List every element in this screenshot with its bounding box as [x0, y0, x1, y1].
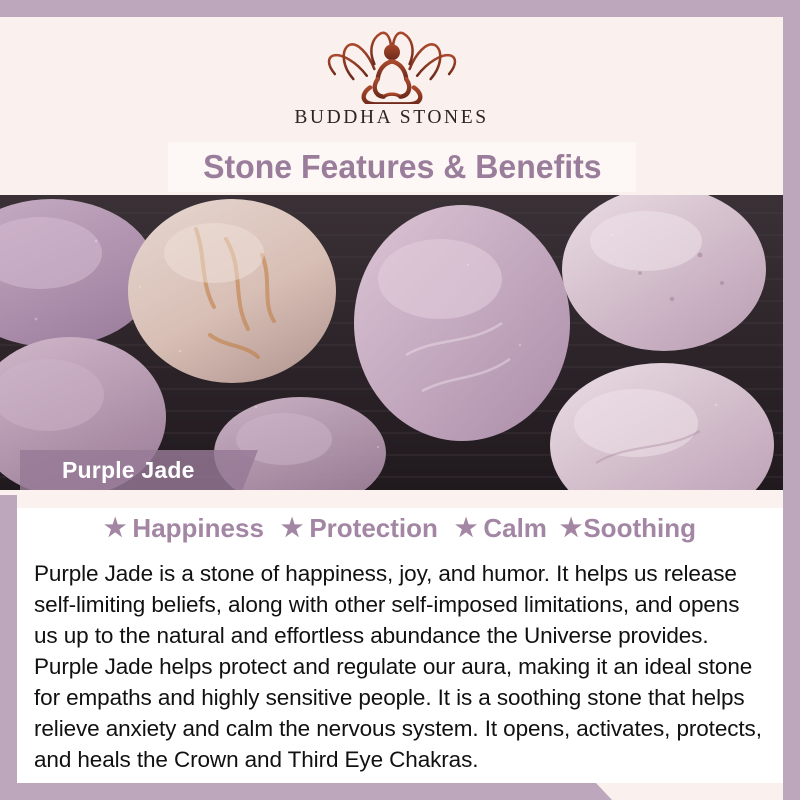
poster-root: BUDDHA STONES Stone Features & Benefits [0, 0, 800, 800]
description-block: Purple Jade is a stone of happiness, joy… [17, 548, 783, 783]
star-icon: ★ [455, 516, 477, 541]
purple-jade-stones-photo [0, 195, 783, 490]
stone-name: Purple Jade [20, 457, 195, 484]
section-title-bar: Stone Features & Benefits [168, 142, 636, 192]
star-icon: ★ [281, 516, 303, 541]
benefit-label: Protection [309, 513, 438, 544]
benefit-item-2: ★ Calm [455, 513, 547, 544]
benefit-label: Soothing [583, 513, 696, 544]
star-icon: ★ [104, 516, 126, 541]
star-icon: ★ [560, 516, 582, 541]
benefit-item-1: ★ Protection [281, 513, 438, 544]
description-paragraph-2: Purple Jade helps protect and regulate o… [34, 651, 769, 775]
lotus-buddha-logo-icon [308, 27, 476, 105]
benefit-item-0: ★ Happiness [104, 513, 264, 544]
stone-name-banner: Purple Jade [20, 450, 258, 491]
benefit-label: Calm [483, 513, 547, 544]
benefits-list: ★ Happiness ★ Protection ★ Calm ★ Soothi… [17, 508, 783, 548]
brand-header: BUDDHA STONES [0, 17, 783, 135]
page-title: Stone Features & Benefits [203, 148, 601, 186]
benefit-label: Happiness [132, 513, 264, 544]
left-mauve-band [0, 495, 17, 800]
description-paragraph-1: Purple Jade is a stone of happiness, joy… [34, 558, 769, 651]
benefit-item-3: ★ Soothing [560, 513, 696, 544]
brand-name: BUDDHA STONES [294, 107, 488, 129]
